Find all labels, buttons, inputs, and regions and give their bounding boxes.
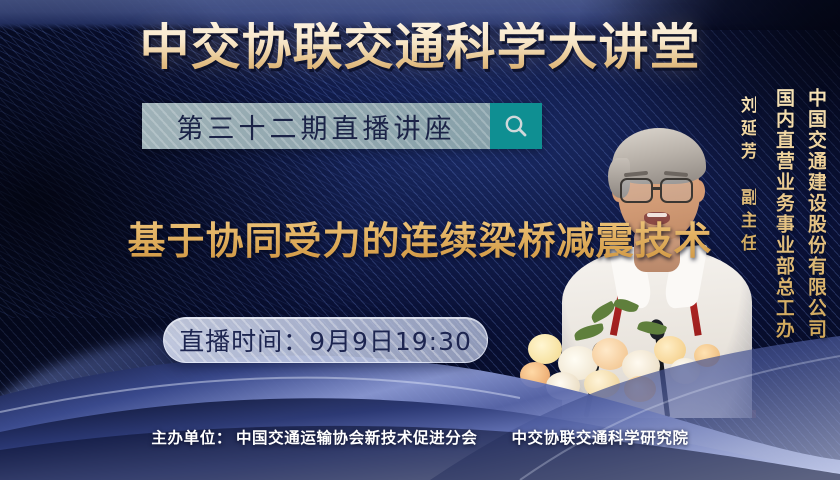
episode-label-container: 第三十二期直播讲座 — [142, 103, 490, 149]
footer-organizers: 主办单位：中国交通运输协会新技术促进分会中交协联交通科学研究院 — [0, 426, 840, 448]
footer-prefix: 主办单位： — [151, 429, 232, 447]
search-icon — [503, 113, 529, 139]
footer-organizer-1: 中国交通运输协会新技术促进分会 — [236, 429, 478, 447]
speaker-company: 中国交通建设股份有限公司 — [806, 88, 826, 340]
page-title: 中交协联交通科学大讲堂 — [0, 22, 840, 72]
lecture-topic: 基于协同受力的连续梁桥减震技术 — [0, 210, 840, 265]
eyeglasses-bridge — [653, 187, 662, 190]
footer-organizer-2: 中交协联交通科学研究院 — [511, 429, 688, 447]
episode-label: 第三十二期直播讲座 — [177, 107, 456, 146]
episode-bar: 第三十二期直播讲座 — [142, 103, 542, 149]
speaker-department: 国内直营业务事业部总工办 — [774, 88, 794, 340]
eyeglasses-left-lens — [620, 178, 653, 203]
eyeglasses-right-lens — [660, 178, 693, 203]
broadcast-time-badge: 直播时间：9月9日19:30 — [163, 317, 488, 363]
poster-root: 中交协联交通科学大讲堂 第三十二期直播讲座 基于协同受力的连续梁桥减震技术 直播… — [0, 0, 840, 480]
search-button[interactable] — [490, 103, 542, 149]
speaker-name-title: 刘延芳 副主任 — [738, 96, 756, 257]
broadcast-time-text: 直播时间：9月9日19:30 — [179, 322, 472, 358]
flower-arrangement — [518, 300, 758, 420]
